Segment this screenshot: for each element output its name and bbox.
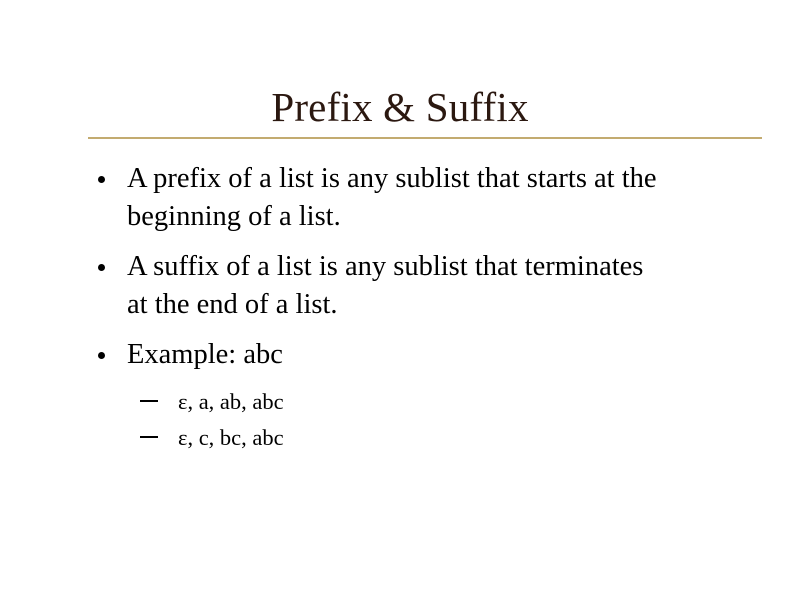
en-dash-icon — [140, 400, 158, 402]
list-item: A suffix of a list is any sublist that t… — [88, 248, 768, 324]
en-dash-icon — [140, 436, 158, 438]
sub-list-item: ε, c, bc, abc — [88, 422, 768, 453]
sub-list-item: ε, a, ab, abc — [88, 386, 768, 417]
page-title: Prefix & Suffix — [0, 83, 800, 131]
list-item-label: A prefix of a list is any sublist that s… — [127, 160, 752, 236]
sub-list-item-label: ε, c, bc, abc — [178, 425, 284, 450]
bullet-dot-icon — [98, 352, 105, 359]
list-item-label: Example: abc — [127, 336, 752, 374]
bullet-dot-icon — [98, 264, 105, 271]
list-item-label: A suffix of a list is any sublist that t… — [127, 248, 647, 324]
sub-list-item-label: ε, a, ab, abc — [178, 389, 284, 414]
slide-canvas: Prefix & Suffix A prefix of a list is an… — [0, 0, 800, 600]
list-item: A prefix of a list is any sublist that s… — [88, 160, 768, 236]
list-item: Example: abc — [88, 336, 768, 374]
slide-body: A prefix of a list is any sublist that s… — [88, 160, 768, 458]
sub-list: ε, a, ab, abc ε, c, bc, abc — [88, 386, 768, 453]
title-divider-rule — [88, 137, 762, 139]
bullet-dot-icon — [98, 176, 105, 183]
